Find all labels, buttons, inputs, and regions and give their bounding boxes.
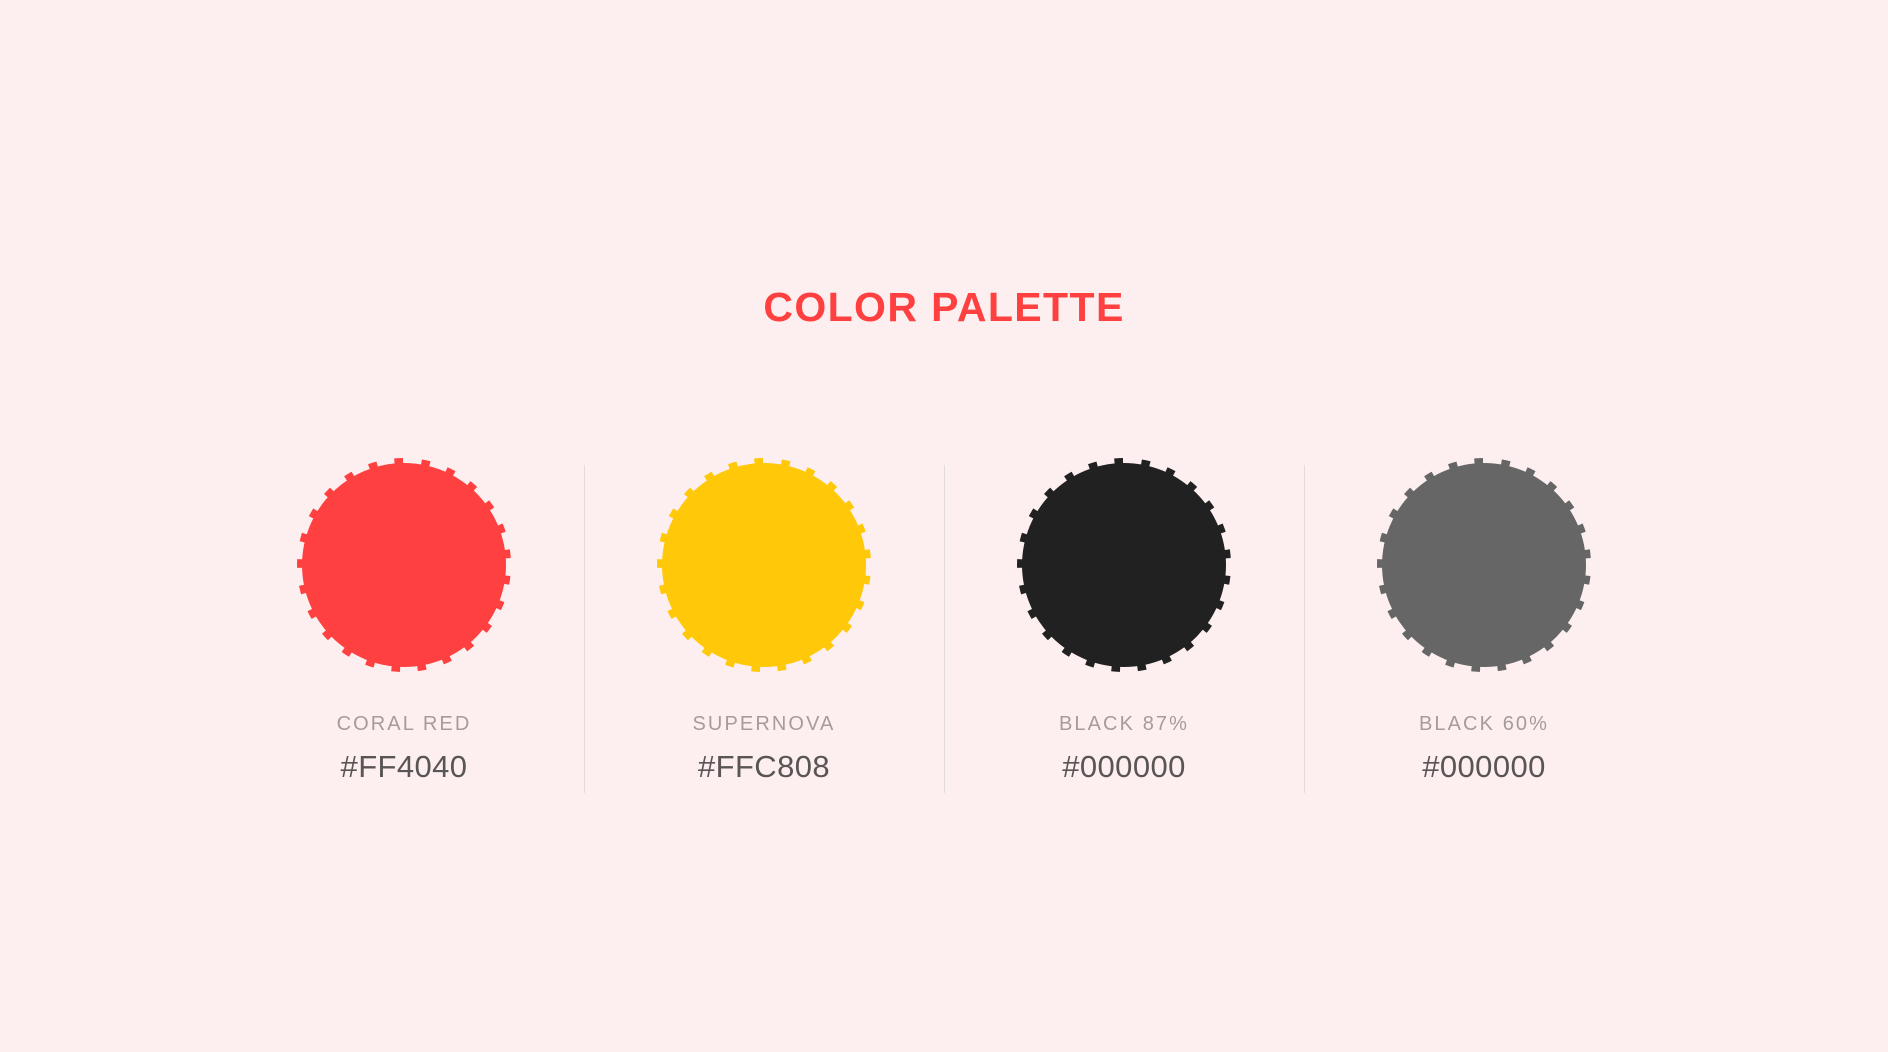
- swatch-card-black-87[interactable]: BLACK 87% #000000: [944, 440, 1304, 800]
- color-circle-coral-red[interactable]: [297, 458, 511, 672]
- swatch-card-black-60[interactable]: BLACK 60% #000000: [1304, 440, 1664, 800]
- color-circle-supernova[interactable]: [657, 458, 871, 672]
- swatch-hex-value: #FF4040: [341, 751, 468, 782]
- swatch-hex-value: #000000: [1062, 751, 1186, 782]
- swatch-hex-value: #000000: [1422, 751, 1546, 782]
- swatch-name-label: CORAL RED: [337, 714, 472, 734]
- swatch-name-label: BLACK 60%: [1419, 714, 1549, 734]
- swatch-name-label: BLACK 87%: [1059, 714, 1189, 734]
- swatch-circle-wrapper: [297, 458, 511, 672]
- swatch-card-coral-red[interactable]: CORAL RED #FF4040: [224, 440, 584, 800]
- color-circle-black-87[interactable]: [1017, 458, 1231, 672]
- color-circle-black-60[interactable]: [1377, 458, 1591, 672]
- swatch-hex-value: #FFC808: [698, 751, 830, 782]
- swatch-circle-wrapper: [1377, 458, 1591, 672]
- page-title: COLOR PALETTE: [0, 287, 1888, 328]
- swatch-circle-wrapper: [657, 458, 871, 672]
- swatch-circle-wrapper: [1017, 458, 1231, 672]
- swatch-grid: CORAL RED #FF4040 SUPERNOVA #FFC808 BLAC…: [224, 440, 1664, 800]
- swatch-name-label: SUPERNOVA: [692, 714, 835, 734]
- swatch-card-supernova[interactable]: SUPERNOVA #FFC808: [584, 440, 944, 800]
- color-palette-board: COLOR PALETTE CORAL RED #FF4040 SUPERNOV…: [0, 0, 1888, 1052]
